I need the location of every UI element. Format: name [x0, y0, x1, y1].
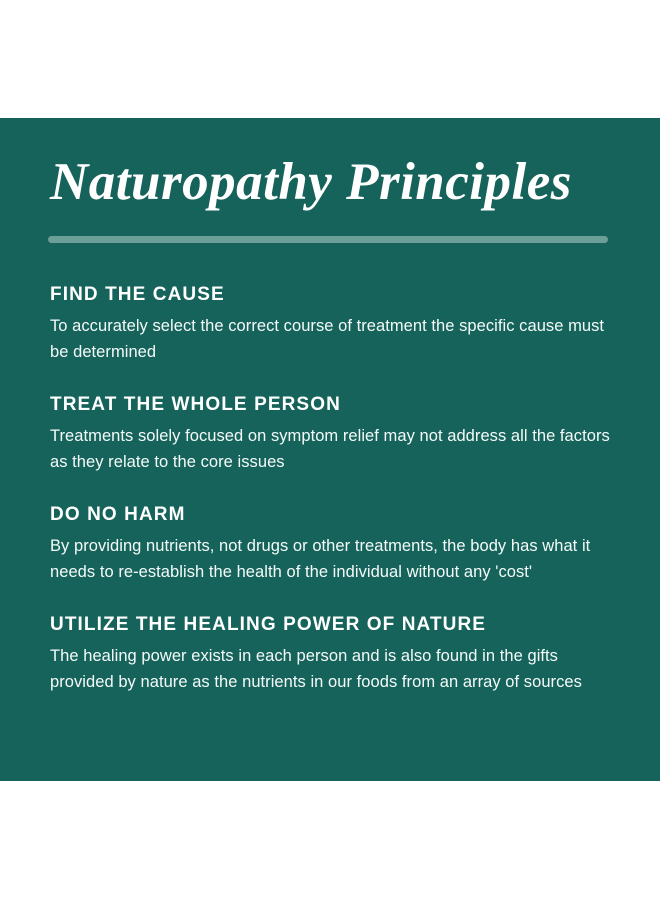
page-root: Naturopathy Principles FIND THE CAUSE To… [0, 0, 660, 900]
principle-body-do-no-harm: By providing nutrients, not drugs or oth… [50, 533, 610, 585]
principle-heading-find-the-cause: FIND THE CAUSE [50, 283, 612, 307]
principle-body-find-the-cause: To accurately select the correct course … [50, 313, 610, 365]
principle-heading-utilize-the-healing-power-of-nature: UTILIZE THE HEALING POWER OF NATURE [50, 613, 612, 637]
principle-item: TREAT THE WHOLE PERSON Treatments solely… [50, 393, 612, 475]
principle-heading-treat-the-whole-person: TREAT THE WHOLE PERSON [50, 393, 612, 417]
principles-panel: Naturopathy Principles FIND THE CAUSE To… [0, 118, 660, 781]
principle-body-utilize-the-healing-power-of-nature: The healing power exists in each person … [50, 643, 610, 695]
principle-item: FIND THE CAUSE To accurately select the … [50, 283, 612, 365]
page-title: Naturopathy Principles [50, 152, 572, 212]
principles-list: FIND THE CAUSE To accurately select the … [50, 283, 612, 695]
principle-heading-do-no-harm: DO NO HARM [50, 503, 612, 527]
principle-body-treat-the-whole-person: Treatments solely focused on symptom rel… [50, 423, 610, 475]
title-divider [48, 236, 608, 243]
principle-item: UTILIZE THE HEALING POWER OF NATURE The … [50, 613, 612, 695]
principle-item: DO NO HARM By providing nutrients, not d… [50, 503, 612, 585]
